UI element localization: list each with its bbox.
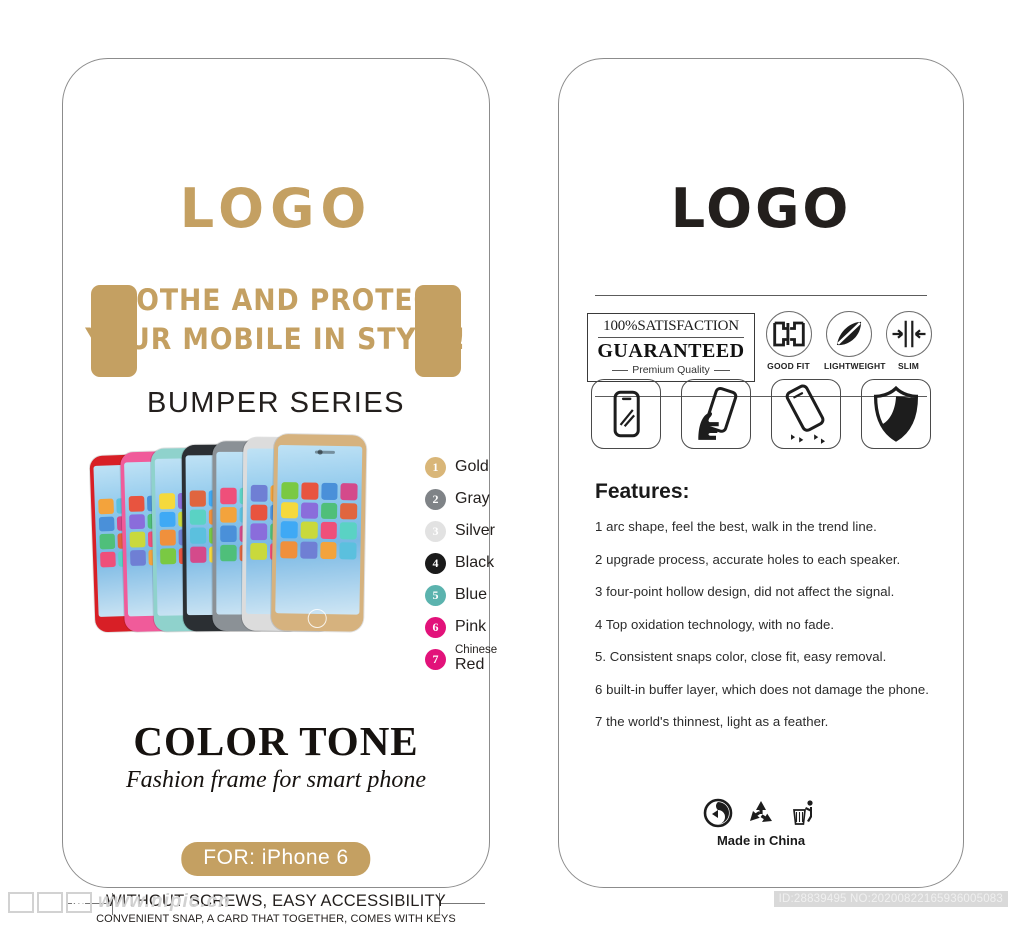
phone-camera — [318, 450, 323, 455]
phone-app-grid — [280, 482, 357, 559]
color-swatch-3: 3 — [425, 521, 446, 542]
watermark-glyph: 昵 — [8, 892, 34, 913]
color-label-1: Gold — [455, 459, 489, 475]
watermark-glyph: 网 — [66, 892, 92, 913]
phone-lineup-image — [91, 391, 369, 631]
origin-block: Made in China — [559, 794, 963, 848]
recycle-icon — [746, 798, 776, 828]
dispose-in-bin-icon — [789, 798, 819, 828]
feather-icon — [826, 311, 872, 357]
feature-item-5: 5. Consistent snaps color, close fit, ea… — [595, 649, 939, 664]
color-label-4: Black — [455, 555, 494, 571]
color-swatch-6: 6 — [425, 617, 446, 638]
color-label-6: Pink — [455, 619, 486, 635]
badge-line-3-text: Premium Quality — [632, 364, 710, 376]
tagline-line-2: YOUR MOBILE IN STYLE! — [80, 320, 472, 359]
attribute-lightweight: LIGHTWEIGHT — [824, 311, 873, 371]
badge-line-3: Premium Quality — [588, 364, 754, 376]
features-heading: Features: — [595, 480, 690, 504]
hand-holding-phone-icon — [681, 379, 751, 449]
features-list: 1 arc shape, feel the best, walk in the … — [595, 519, 939, 747]
color-tone-heading: COLOR TONE — [63, 717, 489, 765]
color-option-blue: 5Blue — [425, 579, 545, 611]
satisfaction-badge: 100%SATISFACTION GUARANTEED Premium Qual… — [587, 313, 755, 382]
color-swatch-1: 1 — [425, 457, 446, 478]
attribute-label: SLIM — [884, 361, 933, 371]
color-option-chinese-red: 7ChineseRed — [425, 643, 545, 675]
front-logo: LOGO — [63, 177, 489, 240]
watermark-url: www.nipic.cn — [98, 891, 231, 913]
packaging-card-back: LOGO 100%SATISFACTION GUARANTEED Premium… — [558, 58, 964, 888]
attribute-slim: SLIM — [884, 311, 933, 371]
feature-item-6: 6 built-in buffer layer, which does not … — [595, 682, 939, 697]
device-compatibility-badge: FOR: iPhone 6 — [181, 842, 370, 876]
color-label-7: ChineseRed — [455, 645, 497, 673]
attribute-label: LIGHTWEIGHT — [824, 361, 873, 371]
phone-gold — [271, 434, 367, 632]
attribute-icon-row: GOOD FITLIGHTWEIGHTSLIM — [764, 311, 934, 371]
color-label-2: Gray — [455, 491, 490, 507]
tagline-line-1: CLOTHE AND PROTECT — [80, 281, 472, 320]
color-label-5: Blue — [455, 587, 487, 603]
feature-item-2: 2 upgrade process, accurate holes to eac… — [595, 552, 939, 567]
color-option-gray: 2Gray — [425, 483, 545, 515]
badge-line-2: GUARANTEED — [588, 340, 754, 363]
feature-item-3: 3 four-point hollow design, did not affe… — [595, 584, 939, 599]
divider-top — [595, 295, 927, 296]
badge-inner-rule — [598, 337, 744, 338]
attribute-label: GOOD FIT — [764, 361, 813, 371]
slim-arrows-icon — [886, 311, 932, 357]
good-fit-icon — [766, 311, 812, 357]
feature-item-7: 7 the world's thinnest, light as a feath… — [595, 714, 939, 729]
color-swatch-5: 5 — [425, 585, 446, 606]
color-option-black: 4Black — [425, 547, 545, 579]
attribute-good-fit: GOOD FIT — [764, 311, 813, 371]
footer-subline: CONVENIENT SNAP, A CARD THAT TOGETHER, C… — [63, 913, 489, 925]
color-label-3: Silver — [455, 523, 495, 539]
feature-item-4: 4 Top oxidation technology, with no fade… — [595, 617, 939, 632]
site-watermark: 昵图网 www.nipic.cn — [8, 891, 231, 913]
phone-screen — [275, 445, 362, 615]
color-swatch-4: 4 — [425, 553, 446, 574]
fashion-subtitle: Fashion frame for smart phone — [63, 767, 489, 794]
artwork-canvas: LOGO CLOTHE AND PROTECT YOUR MOBILE IN S… — [0, 0, 1024, 919]
feature-item-1: 1 arc shape, feel the best, walk in the … — [595, 519, 939, 534]
gold-tab-right — [415, 285, 461, 377]
green-dot-icon — [703, 798, 733, 828]
feature-icon-row — [591, 379, 931, 449]
color-option-list: 1Gold2Gray3Silver4Black5Blue6Pink7Chines… — [425, 451, 545, 675]
phone-drop-icon — [771, 379, 841, 449]
color-option-gold: 1Gold — [425, 451, 545, 483]
watermark-cjk-logo: 昵图网 — [8, 892, 92, 913]
color-option-pink: 6Pink — [425, 611, 545, 643]
color-swatch-2: 2 — [425, 489, 446, 510]
color-label-bottom: Red — [455, 657, 497, 673]
back-logo: LOGO — [559, 177, 963, 240]
asset-id-watermark: ID:28839495 NO:20200822165936005083 — [774, 891, 1008, 907]
gold-tab-left — [91, 285, 137, 377]
packaging-card-front: LOGO CLOTHE AND PROTECT YOUR MOBILE IN S… — [62, 58, 490, 888]
shield-icon — [861, 379, 931, 449]
phone-home-button — [308, 609, 327, 628]
color-option-silver: 3Silver — [425, 515, 545, 547]
color-swatch-7: 7 — [425, 649, 446, 670]
color-label-top: Chinese — [455, 644, 497, 656]
origin-label: Made in China — [559, 833, 963, 848]
badge-line-1: 100%SATISFACTION — [588, 318, 754, 335]
phone-scratch-icon — [591, 379, 661, 449]
origin-icon-row — [559, 794, 963, 828]
watermark-glyph: 图 — [37, 892, 63, 913]
